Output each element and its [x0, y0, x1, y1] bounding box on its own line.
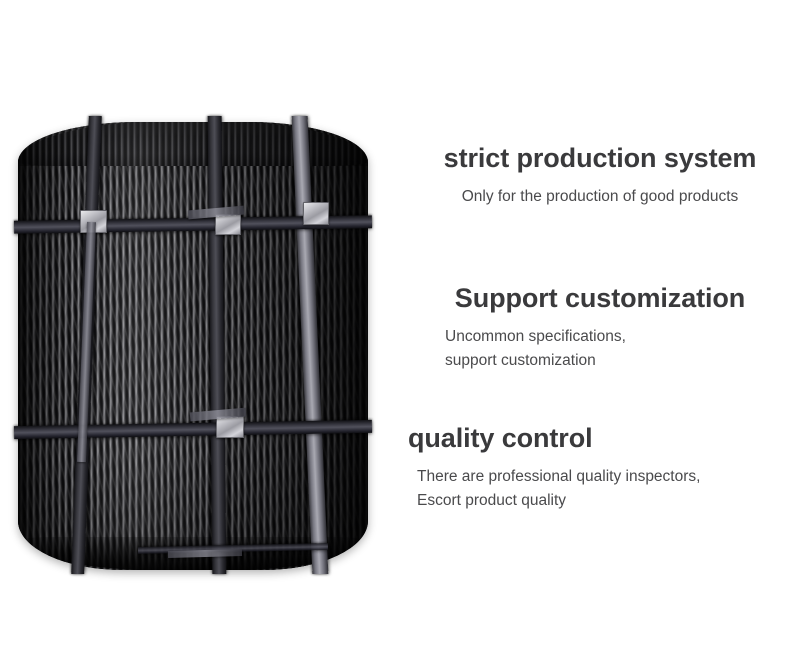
metal-seal-clip-3 — [303, 202, 329, 225]
feature-subtitle: There are professional quality inspector… — [400, 465, 800, 514]
page-root: strict production system Only for the pr… — [0, 0, 800, 660]
product-image — [0, 0, 400, 660]
feature-item-quality-control: quality control There are professional q… — [400, 423, 800, 514]
feature-heading: Support customization — [400, 283, 800, 315]
metal-seal-clip-4 — [216, 416, 244, 438]
feature-item-strict-production-system: strict production system Only for the pr… — [400, 143, 800, 209]
steel-wire-coil — [18, 122, 368, 570]
metal-seal-clip-2 — [215, 214, 241, 235]
feature-list: strict production system Only for the pr… — [400, 0, 800, 660]
feature-item-support-customization: Support customization Uncommon specifica… — [400, 283, 800, 374]
feature-subtitle: Uncommon specifications, support customi… — [400, 325, 800, 374]
feature-subtitle: Only for the production of good products — [400, 185, 800, 209]
feature-heading: strict production system — [400, 143, 800, 175]
feature-heading: quality control — [400, 423, 800, 455]
